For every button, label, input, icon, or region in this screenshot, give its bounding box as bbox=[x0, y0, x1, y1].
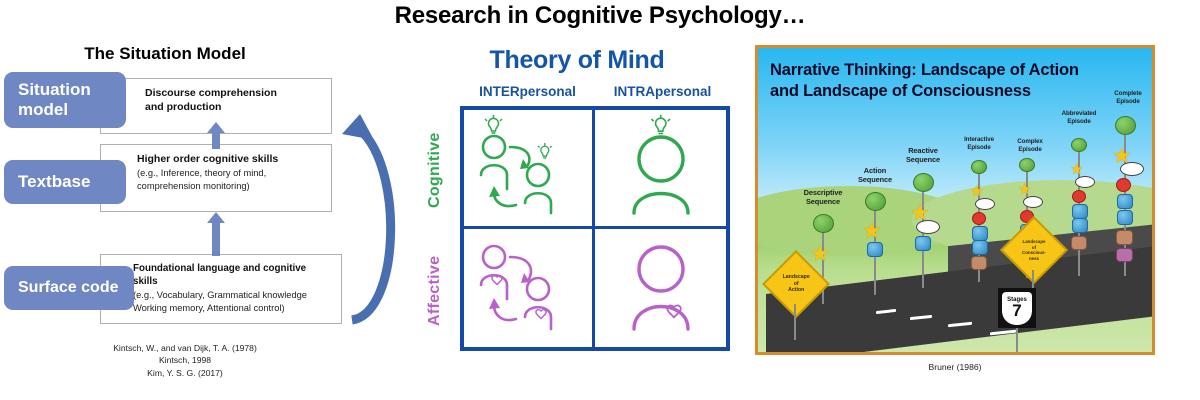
stage-label-complex-episode: Complex Episode bbox=[1006, 138, 1054, 154]
single-person-thought-bulb-icon bbox=[606, 113, 716, 223]
story-blob-icon bbox=[1071, 138, 1087, 152]
cell-affective-interpersonal[interactable] bbox=[464, 229, 595, 348]
story-speech-bubble-icon bbox=[1023, 196, 1043, 208]
story-blob-icon bbox=[1115, 116, 1136, 135]
story-drum-icon bbox=[915, 236, 931, 251]
cell-cognitive-interpersonal[interactable] bbox=[464, 110, 595, 229]
arrow-up-textbase-to-situation bbox=[207, 122, 225, 140]
sign-landscape-of-consciousness-text: Landscape of Conscious- ness bbox=[1014, 239, 1054, 261]
box-discourse-heading: Discourse comprehension bbox=[145, 86, 321, 100]
two-people-hearts-arrows-icon bbox=[466, 233, 590, 343]
level-situation-model[interactable]: Situation model bbox=[4, 72, 126, 128]
stage-label-descriptive-sequence: Descriptive Sequence bbox=[792, 188, 854, 207]
story-character-icon bbox=[1116, 248, 1133, 262]
story-chip-icon bbox=[1116, 178, 1131, 192]
column-label-intrapersonal: INTRApersonal bbox=[595, 84, 730, 99]
stage-label-abbreviated-episode: Abbreviated Episode bbox=[1050, 110, 1108, 126]
two-people-thought-bulbs-arrows-icon bbox=[466, 113, 590, 223]
theory-of-mind-panel: Theory of Mind INTERpersonal INTRAperson… bbox=[412, 34, 742, 400]
level-textbase-label: Textbase bbox=[18, 172, 90, 192]
box-higher-order-skills: Higher order cognitive skills (e.g., Inf… bbox=[100, 144, 332, 212]
situation-model-panel: The Situation Model Discourse comprehens… bbox=[0, 34, 410, 400]
narrative-thinking-panel: Narrative Thinking: Landscape of Action … bbox=[755, 45, 1155, 355]
story-blob-icon bbox=[865, 192, 886, 211]
box-discourse-heading2: and production bbox=[145, 100, 321, 114]
sign-stages-7[interactable]: Stages 7 bbox=[998, 288, 1036, 328]
story-blob-icon bbox=[971, 160, 987, 174]
box-foundational-skills: Foundational language and cognitive skil… bbox=[100, 254, 342, 324]
box-higher-order-heading: Higher order cognitive skills bbox=[137, 152, 321, 166]
story-blob-icon bbox=[913, 173, 934, 192]
stage-label-reactive-sequence: Reactive Sequence bbox=[894, 146, 952, 165]
citation-line-2: Kintsch, 1998 bbox=[20, 354, 350, 366]
story-blob-icon bbox=[813, 214, 834, 233]
theory-of-mind-grid bbox=[460, 106, 730, 351]
story-chip-icon bbox=[972, 212, 986, 225]
story-speech-bubble-icon bbox=[1120, 162, 1144, 176]
box-foundational-sub: (e.g., Vocabulary, Grammatical knowledge… bbox=[133, 289, 331, 314]
story-speech-bubble-icon bbox=[975, 198, 995, 210]
story-character-icon bbox=[1116, 230, 1133, 245]
level-situation-model-label: Situation model bbox=[18, 80, 91, 119]
sign-pole bbox=[794, 304, 796, 340]
column-label-interpersonal: INTERpersonal bbox=[460, 84, 595, 99]
story-drum-icon bbox=[972, 226, 988, 241]
row-label-cognitive: Cognitive bbox=[426, 110, 444, 230]
story-drum-icon bbox=[1117, 194, 1133, 209]
story-speech-bubble-icon bbox=[1075, 176, 1095, 188]
theory-of-mind-column-labels: INTERpersonal INTRApersonal bbox=[460, 84, 730, 99]
story-drum-icon bbox=[972, 240, 988, 255]
level-textbase[interactable]: Textbase bbox=[4, 160, 126, 204]
single-person-heart-icon bbox=[606, 233, 716, 343]
sign-pole bbox=[1016, 328, 1018, 355]
story-drum-icon bbox=[867, 242, 883, 257]
page-title: Research in Cognitive Psychology… bbox=[0, 2, 1200, 30]
story-drum-icon bbox=[1117, 210, 1133, 225]
stage-label-action-sequence: Action Sequence bbox=[846, 166, 904, 185]
stage-label-complete-episode: Complete Episode bbox=[1102, 90, 1154, 106]
narrative-thinking-title: Narrative Thinking: Landscape of Action … bbox=[770, 60, 1140, 101]
story-drum-icon bbox=[1072, 204, 1088, 219]
citation-line-3: Kim, Y. S. G. (2017) bbox=[20, 367, 350, 379]
cell-affective-intrapersonal[interactable] bbox=[595, 229, 726, 348]
row-label-affective: Affective bbox=[426, 232, 444, 350]
story-character-icon bbox=[1071, 236, 1087, 250]
level-surface-code[interactable]: Surface code bbox=[4, 266, 134, 310]
sign-landscape-of-action-text: Landscape of Action bbox=[776, 274, 816, 294]
arrow-up-surface-to-textbase bbox=[207, 212, 225, 256]
box-foundational-heading: Foundational language and cognitive skil… bbox=[133, 262, 331, 288]
story-speech-bubble-icon bbox=[916, 220, 940, 234]
situation-model-title: The Situation Model bbox=[0, 44, 330, 64]
narrative-title-line-2: and Landscape of Consciousness bbox=[770, 81, 1140, 102]
story-chip-icon bbox=[1072, 190, 1086, 203]
shield-line-2: 7 bbox=[1012, 302, 1021, 319]
box-higher-order-sub: (e.g., Inference, theory of mind, compre… bbox=[137, 167, 321, 192]
story-character-icon bbox=[971, 256, 987, 270]
stage-label-interactive-episode: Interactive Episode bbox=[954, 136, 1004, 152]
citation-situation-model: Kintsch, W., and van Dijk, T. A. (1978) … bbox=[20, 342, 350, 379]
citation-line-1: Kintsch, W., and van Dijk, T. A. (1978) bbox=[20, 342, 350, 354]
story-drum-icon bbox=[1072, 218, 1088, 233]
cell-cognitive-intrapersonal[interactable] bbox=[595, 110, 726, 229]
theory-of-mind-title: Theory of Mind bbox=[412, 46, 742, 75]
story-blob-icon bbox=[1019, 158, 1035, 172]
curved-feedback-arrow bbox=[330, 108, 410, 336]
shield-inner: Stages 7 bbox=[1002, 292, 1032, 325]
citation-narrative-thinking: Bruner (1986) bbox=[755, 362, 1155, 372]
narrative-title-line-1: Narrative Thinking: Landscape of Action bbox=[770, 60, 1140, 81]
level-surface-code-label: Surface code bbox=[18, 279, 118, 297]
